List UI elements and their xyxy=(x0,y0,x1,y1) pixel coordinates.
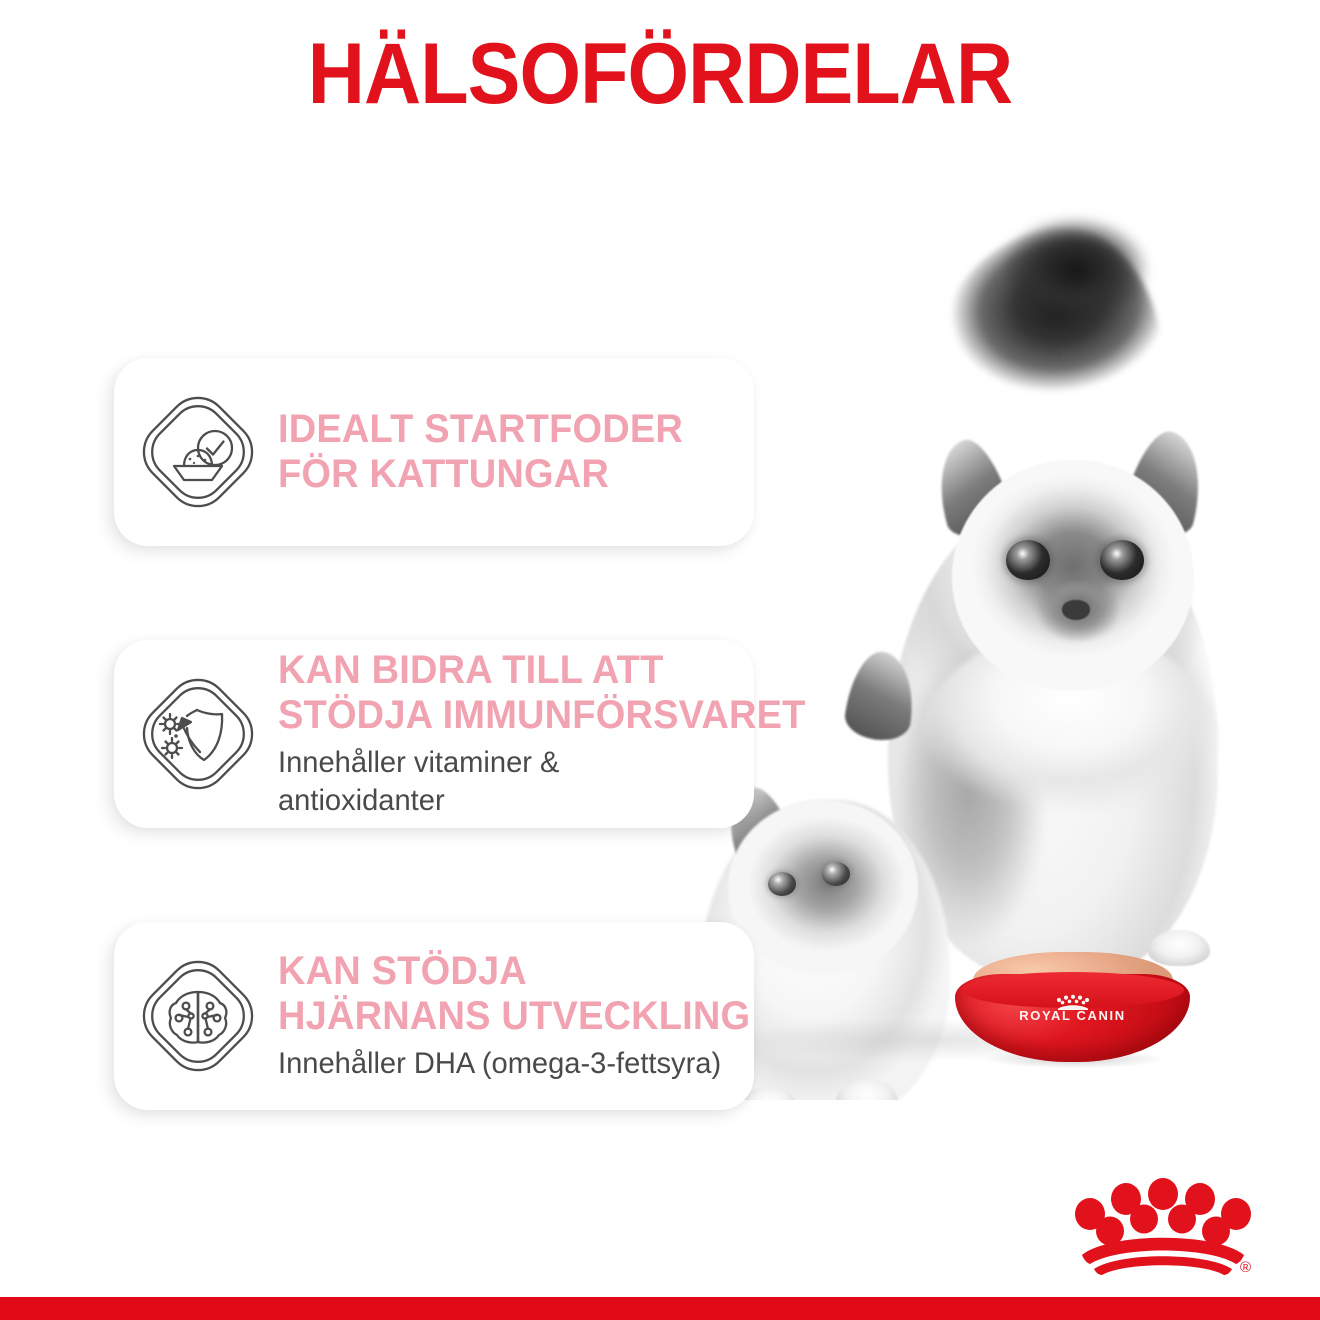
benefit-subtitle: Innehåller DHA (omega-3-fettsyra) xyxy=(278,1045,879,1083)
benefit-card-ideal-starter-food: IDEALT STARTFODER FÖR KATTUNGAR xyxy=(114,358,754,546)
adult-cat-muzzle xyxy=(1032,582,1124,656)
shield-immunity-icon xyxy=(142,678,254,790)
benefit-heading: KAN BIDRA TILL ATT STÖDJA IMMUNFÖRSVARET xyxy=(278,648,867,738)
kitten-eye-right xyxy=(822,862,850,886)
page-title: HÄLSOFÖRDELAR xyxy=(53,26,1267,122)
adult-cat-head xyxy=(952,460,1194,690)
adult-cat-ear-left xyxy=(926,433,1016,543)
royal-canin-crown-logo: ® xyxy=(1068,1168,1258,1278)
benefit-subtitle: Innehåller vitaminer & antioxidanter xyxy=(278,744,879,820)
cat-tail xyxy=(917,215,1171,445)
adult-cat-eye-left xyxy=(1006,540,1050,580)
health-benefits-page: HÄLSOFÖRDELAR xyxy=(0,0,1320,1320)
cat-tail-tip xyxy=(1000,210,1150,330)
benefit-heading: IDEALT STARTFODER FÖR KATTUNGAR xyxy=(278,407,867,497)
adult-cat-ruff xyxy=(920,630,1220,860)
food-bowl-check-icon xyxy=(142,396,254,508)
bottom-red-bar xyxy=(0,1297,1320,1320)
benefit-text-block: KAN BIDRA TILL ATT STÖDJA IMMUNFÖRSVARET… xyxy=(278,640,898,828)
food-bowl: ROYAL CANIN xyxy=(955,952,1190,1064)
adult-cat-body xyxy=(888,500,1218,980)
benefit-card-immune-support: KAN BIDRA TILL ATT STÖDJA IMMUNFÖRSVARET… xyxy=(114,640,754,828)
benefit-heading: KAN STÖDJA HJÄRNANS UTVECKLING xyxy=(278,949,867,1039)
benefit-card-brain-development: KAN STÖDJA HJÄRNANS UTVECKLING Innehålle… xyxy=(114,922,754,1110)
registered-mark: ® xyxy=(1240,1259,1251,1276)
brain-icon xyxy=(142,960,254,1072)
bowl-brand-label: ROYAL CANIN xyxy=(955,1008,1190,1023)
kitten-eye-left xyxy=(768,872,796,896)
adult-cat-nose xyxy=(1062,600,1090,620)
adult-cat-eye-right xyxy=(1100,540,1144,580)
adult-cat-body-shading xyxy=(900,630,1070,960)
benefit-text-block: IDEALT STARTFODER FÖR KATTUNGAR xyxy=(278,358,898,546)
adult-cat-ear-right xyxy=(1118,425,1213,543)
benefit-text-block: KAN STÖDJA HJÄRNANS UTVECKLING Innehålle… xyxy=(278,922,898,1110)
